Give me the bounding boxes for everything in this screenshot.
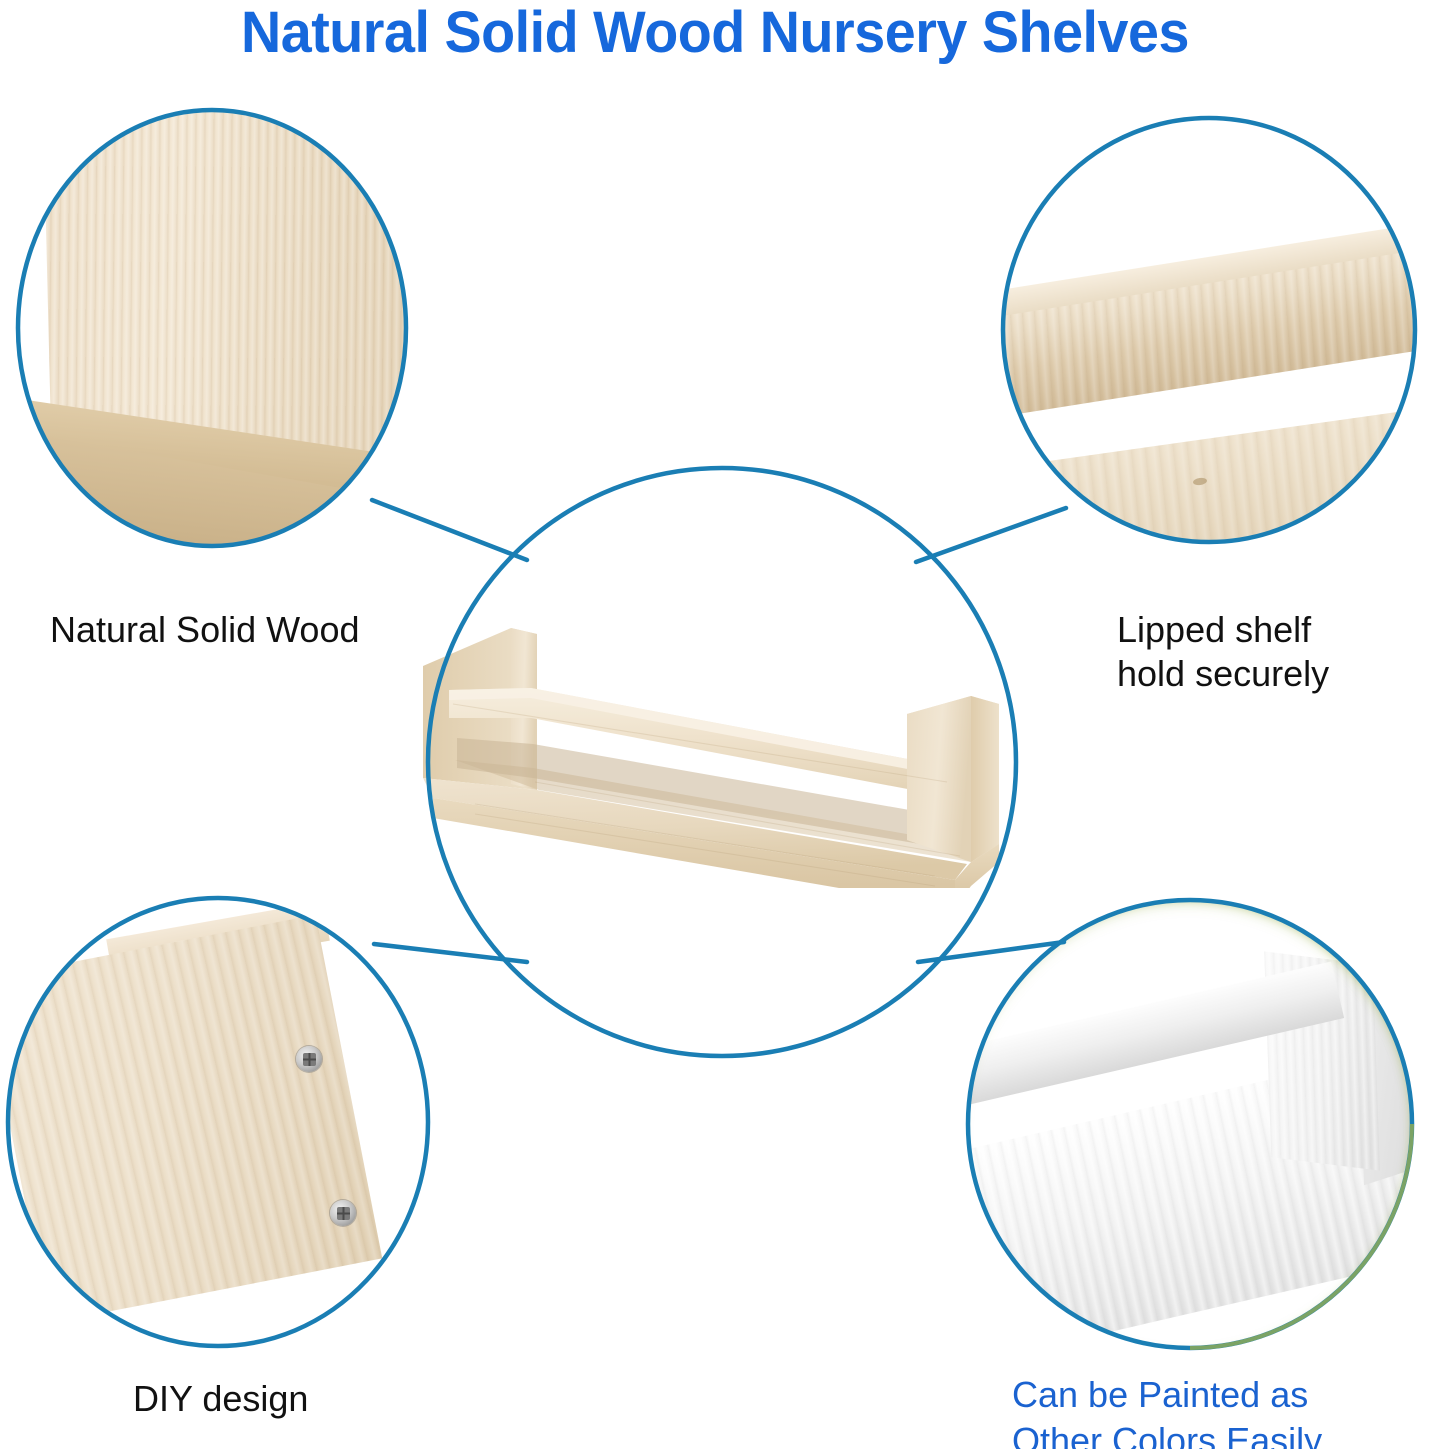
callout-line: Other Colors Easily xyxy=(1012,1418,1322,1449)
photo-wood-grain-detail xyxy=(18,110,406,546)
callout-lipped-shelf: Lipped shelf hold securely xyxy=(1117,608,1329,696)
white-painted-shelf-image xyxy=(968,900,1413,1348)
shelf-right-end-panel xyxy=(907,696,999,862)
photo-screw-mount-detail xyxy=(8,898,428,1346)
callout-line: hold securely xyxy=(1117,652,1329,696)
page-title: Natural Solid Wood Nursery Shelves xyxy=(29,2,1402,64)
photo-white-painted-shelf-detail xyxy=(968,900,1413,1348)
screw-icon xyxy=(330,1200,356,1226)
end-panel xyxy=(8,915,382,1323)
callout-line: Natural Solid Wood xyxy=(50,608,360,652)
green-rim-tint xyxy=(968,900,1413,1348)
callout-diy-design: DIY design xyxy=(133,1377,308,1421)
screw-icon xyxy=(296,1046,322,1072)
callout-line: DIY design xyxy=(133,1377,308,1421)
callout-natural-solid-wood: Natural Solid Wood xyxy=(50,608,360,652)
infographic-page: Natural Solid Wood Nursery Shelves xyxy=(0,0,1430,1449)
screw-mount-image xyxy=(8,898,428,1346)
lipped-rail-image xyxy=(1003,118,1415,542)
callout-line: Can be Painted as xyxy=(1012,1372,1322,1418)
shelf-board xyxy=(1003,395,1415,542)
main-product-shelf xyxy=(415,618,1025,888)
wood-grain-image xyxy=(18,110,406,546)
photo-lipped-rail-detail xyxy=(1003,118,1415,542)
callout-can-be-painted: Can be Painted as Other Colors Easily xyxy=(1012,1372,1322,1449)
callout-line: Lipped shelf xyxy=(1117,608,1329,652)
